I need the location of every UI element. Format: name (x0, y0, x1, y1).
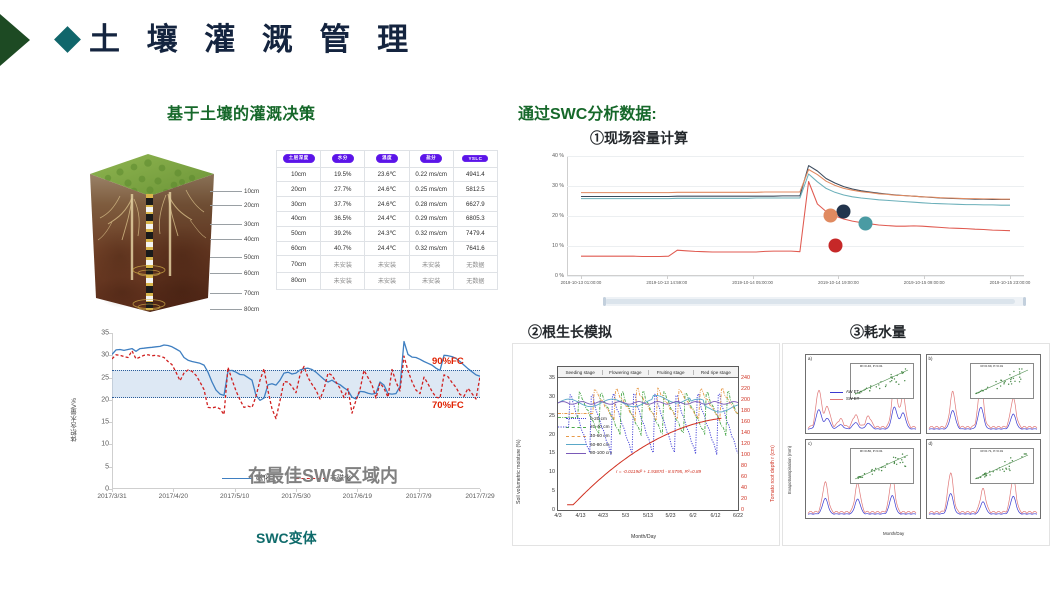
soil-profile-block: 10cm 20cm 30cm 40cm 50cm 60cm 70cm 80cm (82, 152, 278, 314)
table-cell: 无数据 (453, 256, 497, 273)
legend-swatch-line (830, 399, 843, 400)
table-body: 10cm19.5%23.6℃0.22 ms/cm4941.420cm27.7%2… (277, 167, 498, 289)
scatter-point (1001, 380, 1002, 381)
series-overlay (971, 364, 1033, 398)
capacity-plot-area: 0 %10 %20 %30 %40 %2019-10-13 01:00:0020… (567, 156, 1024, 276)
table-cell: 60cm (277, 241, 321, 256)
table-cell: 0.28 ms/cm (409, 197, 453, 212)
table-cell: 24.4℃ (365, 211, 409, 226)
scatter-point (1024, 453, 1025, 454)
et-panel-grid: a)0.00.30.60.91.21.54/164/184/20R²=0.46,… (805, 354, 1041, 519)
scatter-point (905, 466, 906, 467)
slide-header: 土 壤 灌 溉 管 理 (58, 24, 417, 55)
table-header-cell: 温度 (365, 151, 409, 168)
scrollbar-handle-right[interactable] (1023, 297, 1026, 306)
scatter-point (1022, 368, 1023, 369)
scatter-point (1002, 469, 1003, 470)
header-pill: 盐分 (420, 154, 442, 163)
y-axis-tick: 30 % (552, 183, 564, 189)
page-title: 土 壤 灌 溉 管 理 (89, 24, 417, 55)
series-overlay (971, 449, 1033, 483)
table-row: 20cm27.7%24.6℃0.25 ms/cm5812.5 (277, 182, 498, 197)
depth-label-group: 10cm 20cm 30cm 40cm 50cm 60cm 70cm 80cm (210, 152, 280, 314)
scatter-point (878, 469, 879, 470)
scrollbar-thumb[interactable] (605, 299, 1015, 304)
scatter-point (870, 387, 871, 388)
table-row: 70cm未安装未安装未安装无数据 (277, 256, 498, 273)
scatter-point (893, 457, 894, 458)
swc-optimal-zone-note: 在最佳SWC区域内 (248, 462, 398, 488)
table-cell: 0.25 ms/cm (409, 182, 453, 197)
scatter-point (1013, 378, 1014, 379)
scatter-point (1005, 381, 1006, 382)
table-row: 10cm19.5%23.6℃0.22 ms/cm4941.4 (277, 167, 498, 182)
x-axis-tick: 2017/4/20 (159, 493, 188, 500)
table-cell: 24.4℃ (365, 241, 409, 256)
scatter-point (1000, 469, 1001, 470)
y-axis-title-left: Soil volumetric moisture (%) (516, 386, 522, 504)
map-pin-orange[interactable] (823, 208, 838, 227)
header-pill: 土层深度 (283, 154, 315, 163)
table-cell: 未安装 (321, 273, 365, 290)
y-axis-tick-left: 25 (549, 413, 555, 419)
scatter-point (996, 381, 997, 382)
y-axis-tick-right: 240 (741, 375, 750, 381)
scatter-point (876, 386, 877, 387)
scatter-point (895, 381, 896, 382)
water-consumption-panels: Evapotranspiration (mm) Month/Day a)0.00… (782, 343, 1050, 546)
table-header-cell: 盐分 (409, 151, 453, 168)
y-axis-tick-right: 200 (741, 397, 750, 403)
x-tick-mark (667, 276, 668, 279)
table-cell: 50cm (277, 226, 321, 241)
series-overlay (558, 367, 738, 510)
x-tick-mark (1010, 276, 1011, 279)
table-cell: 27.7% (321, 182, 365, 197)
et-panel-c: c)0.00.51.01.52.02.56/76/86/96/10R²=0.80… (805, 439, 921, 519)
x-axis-tick: 6/22 (733, 513, 743, 519)
x-tick-mark (838, 276, 839, 279)
table-cell: 24.6℃ (365, 197, 409, 212)
series-path (581, 174, 1010, 205)
scatter-point (872, 474, 873, 475)
scatter-point (895, 457, 896, 458)
y-axis-title: 体积含水量V% (70, 398, 79, 443)
header-pill: 温度 (376, 154, 398, 163)
scatter-point (902, 453, 903, 454)
swc-chart-caption: SWC变体 (256, 528, 317, 548)
table-cell: 4941.4 (453, 167, 497, 182)
table-cell: 6805.3 (453, 211, 497, 226)
scatter-point (986, 475, 987, 476)
x-axis-tick: 5/3 (622, 513, 629, 519)
scatter-point (1014, 371, 1015, 372)
y-axis-tick-left: 20 (549, 432, 555, 438)
map-pin-red[interactable] (828, 238, 843, 257)
table-header-cell: 水分 (321, 151, 365, 168)
x-axis-tick: 2017/7/29 (465, 493, 494, 500)
y-axis-tick-right: 80 (741, 463, 747, 469)
scatter-point (984, 473, 985, 474)
scatter-point (1019, 381, 1020, 382)
x-axis-tick: 2019-10-14 19:00:00 (818, 280, 859, 285)
x-axis-tick: 4/23 (598, 513, 608, 519)
diamond-bullet-icon (54, 26, 81, 53)
table-cell: 70cm (277, 256, 321, 273)
y-axis-tick-left: 5 (552, 488, 555, 494)
field-capacity-chart: 0 %10 %20 %30 %40 %2019-10-13 01:00:0020… (525, 148, 1038, 308)
y-axis-title-right: Tomato root depth r (cm) (770, 392, 776, 502)
legend-label: SW ET (846, 396, 859, 403)
root-growth-chart: Soil volumetric moisture (%) Tomato root… (512, 343, 780, 546)
y-axis-tick-right: 220 (741, 386, 750, 392)
scatter-point (894, 463, 895, 464)
y-axis-tick-right: 120 (741, 441, 750, 447)
legend-item: SW ET (830, 396, 861, 403)
table-cell: 7641.6 (453, 241, 497, 256)
table-header-cell: YSLC (453, 151, 497, 168)
table-cell: 36.5% (321, 211, 365, 226)
scatter-point (1004, 382, 1005, 383)
scatter-point (885, 386, 886, 387)
table-cell: 80cm (277, 273, 321, 290)
depth-label: 10cm (244, 188, 259, 195)
y-axis-tick-right: 20 (741, 496, 747, 502)
x-axis-tick: 4/13 (575, 513, 585, 519)
depth-label: 20cm (244, 202, 259, 209)
x-axis-tick: 6/2 (689, 513, 696, 519)
scatter-point (1010, 374, 1011, 375)
table-cell: 40.7% (321, 241, 365, 256)
corner-accent-triangle (0, 14, 30, 66)
scatter-point (862, 477, 863, 478)
x-tick-mark (296, 489, 297, 492)
scatter-point (1011, 379, 1012, 380)
x-tick-mark (581, 276, 582, 279)
gridline (567, 276, 1024, 277)
scatter-point (901, 459, 902, 460)
x-axis-tick: 2019-10-15 23:00:00 (990, 280, 1031, 285)
y-axis-tick: 15 (101, 419, 109, 426)
scatter-point (891, 378, 892, 379)
scatter-point (881, 470, 882, 471)
capacity-section-heading: ①现场容量计算 (590, 128, 688, 148)
map-pin-teal[interactable] (858, 216, 873, 235)
x-axis-tick: 2017/6/19 (343, 493, 372, 500)
fc-lower-label: 70%FC (432, 400, 464, 411)
scatter-point (885, 384, 886, 385)
x-tick-mark (419, 489, 420, 492)
table-cell: 7479.4 (453, 226, 497, 241)
y-axis-tick-right: 60 (741, 474, 747, 480)
y-axis-tick-right: 160 (741, 419, 750, 425)
legend-swatch-line (830, 392, 843, 393)
x-axis-tick: 2017/5/30 (281, 493, 310, 500)
x-axis-title: Month/Day (631, 534, 656, 540)
depth-label: 50cm (244, 254, 259, 261)
depth-label: 30cm (244, 221, 259, 228)
y-axis-tick-left: 15 (549, 450, 555, 456)
inset-scatter-plot: R²=0.71, P<0.01 (970, 448, 1034, 484)
et-x-axis-title: Month/Day (883, 531, 904, 536)
y-axis-tick: 40 % (552, 153, 564, 159)
scatter-point (1004, 383, 1005, 384)
y-axis-tick: 30 (101, 352, 109, 359)
series-overlay (567, 156, 1024, 276)
soil-data-table: 土层深度 水分 温度 盐分 YSLC 10cm19.5%23.6℃0.22 ms… (276, 150, 498, 290)
scatter-point (879, 388, 880, 389)
table-cell: 30cm (277, 197, 321, 212)
scatter-point (1009, 468, 1010, 469)
scatter-point (1019, 376, 1020, 377)
scatter-point (890, 374, 891, 375)
series-path (929, 407, 1037, 429)
right-section-heading: 通过SWC分析数据: (518, 100, 657, 124)
table-cell: 未安装 (365, 256, 409, 273)
table-row: 80cm未安装未安装未安装无数据 (277, 273, 498, 290)
table-cell: 19.5% (321, 167, 365, 182)
scatter-point (1005, 461, 1006, 462)
x-tick-mark (235, 489, 236, 492)
y-axis-tick-left: 30 (549, 394, 555, 400)
x-axis-tick: 6/12 (710, 513, 720, 519)
et-panel-d: d)0.00.51.01.52.02.56/166/176/186/19R²=0… (926, 439, 1042, 519)
scatter-point (990, 474, 991, 475)
scatter-point (1000, 385, 1001, 386)
table-cell: 0.32 ms/cm (409, 241, 453, 256)
scatter-point (1010, 457, 1011, 458)
table-cell: 0.29 ms/cm (409, 211, 453, 226)
soil-data-table-wrapper: 土层深度 水分 温度 盐分 YSLC 10cm19.5%23.6℃0.22 ms… (276, 150, 498, 290)
scatter-point (891, 380, 892, 381)
scatter-point (1010, 470, 1011, 471)
table-cell: 0.22 ms/cm (409, 167, 453, 182)
scatter-point (1006, 468, 1007, 469)
inset-scatter-plot: R²=0.80, P<0.01 (850, 448, 914, 484)
table-cell: 24.6℃ (365, 182, 409, 197)
scatter-point (905, 368, 906, 369)
y-axis-tick-left: 10 (549, 469, 555, 475)
scatter-point (1010, 381, 1011, 382)
y-axis-tick-right: 40 (741, 485, 747, 491)
series-path (581, 170, 1010, 200)
scatter-point (904, 380, 905, 381)
y-axis-tick: 10 (101, 441, 109, 448)
table-cell: 10cm (277, 167, 321, 182)
table-cell: 0.32 ms/cm (409, 226, 453, 241)
x-tick-mark (753, 276, 754, 279)
table-row: 40cm36.5%24.4℃0.29 ms/cm6805.3 (277, 211, 498, 226)
series-path (112, 351, 480, 419)
scatter-point (875, 468, 876, 469)
table-cell: 23.6℃ (365, 167, 409, 182)
x-axis-tick: 2017/7/9 (406, 493, 432, 500)
y-axis-tick: 20 (101, 396, 109, 403)
x-axis-tick: 2019-10-14 05:00:00 (732, 280, 773, 285)
scatter-point (898, 384, 899, 385)
series-path (855, 455, 908, 479)
x-axis-tick: 2019-10-15 09:00:00 (904, 280, 945, 285)
table-row: 50cm39.2%24.3℃0.32 ms/cm7479.4 (277, 226, 498, 241)
y-axis-tick-right: 100 (741, 452, 750, 458)
table-cell: 未安装 (365, 273, 409, 290)
table-cell: 未安装 (409, 273, 453, 290)
y-axis-tick: 20 % (552, 213, 564, 219)
scatter-point (1015, 381, 1016, 382)
y-axis-tick-left: 35 (549, 375, 555, 381)
chart-range-scrollbar[interactable] (603, 297, 1026, 306)
scatter-point (885, 466, 886, 467)
depth-label: 60cm (244, 270, 259, 277)
x-axis-tick: 5/23 (665, 513, 675, 519)
scatter-point (899, 462, 900, 463)
table-header-row: 土层深度 水分 温度 盐分 YSLC (277, 151, 498, 168)
x-tick-mark (924, 276, 925, 279)
scatter-point (1019, 368, 1020, 369)
water-consumption-section-heading: ③耗水量 (850, 322, 906, 342)
depth-label: 70cm (244, 290, 259, 297)
y-axis-tick: 35 (101, 330, 109, 337)
scatter-point (902, 462, 903, 463)
scatter-point (889, 381, 890, 382)
et-panel-b: b)0123455/55/65/75/8R²=0.69, P<0.01 (926, 354, 1042, 434)
x-axis-tick: 2017/3/31 (97, 493, 126, 500)
x-axis-tick: 2019-10-13 14:59:00 (646, 280, 687, 285)
inset-scatter-plot: R²=0.69, P<0.01 (970, 363, 1034, 399)
legend-item: AW ET₀ (830, 389, 861, 396)
table-cell: 20cm (277, 182, 321, 197)
table-cell: 39.2% (321, 226, 365, 241)
et-y-axis-title: Evapotranspiration (mm) (787, 384, 792, 494)
fc-upper-label: 90%FC (432, 356, 464, 367)
scatter-point (1009, 466, 1010, 467)
series-path (581, 166, 1010, 200)
table-cell: 无数据 (453, 273, 497, 290)
scatter-point (878, 384, 879, 385)
depth-label: 40cm (244, 236, 259, 243)
y-axis-tick: 25 (101, 374, 109, 381)
legend-label: AW ET₀ (846, 389, 861, 396)
x-axis-tick: 5/13 (643, 513, 653, 519)
scatter-point (1021, 379, 1022, 380)
soil-profile-svg (82, 152, 222, 314)
series-path (975, 455, 1028, 479)
y-axis-tick-right: 140 (741, 430, 750, 436)
root-plot-area: Seeding stageFlowering stageFruiting sta… (557, 366, 739, 511)
scatter-point (1019, 371, 1020, 372)
left-section-heading: 基于土壤的灌溉决策 (167, 100, 316, 124)
header-pill: 水分 (332, 154, 354, 163)
scatter-point (896, 464, 897, 465)
table-cell: 6627.9 (453, 197, 497, 212)
scrollbar-handle-left[interactable] (603, 297, 606, 306)
table-cell: 24.3℃ (365, 226, 409, 241)
scatter-point (984, 476, 985, 477)
x-tick-mark (173, 489, 174, 492)
series-path (855, 370, 908, 394)
table-cell: 未安装 (409, 256, 453, 273)
series-path (808, 407, 916, 429)
scatter-point (1008, 384, 1009, 385)
table-cell: 40cm (277, 211, 321, 226)
y-axis-tick: 0 % (555, 273, 564, 279)
y-axis-tick-right: 180 (741, 408, 750, 414)
series-overlay (851, 449, 913, 483)
scatter-point (1004, 471, 1005, 472)
et-legend: AW ET₀SW ET (830, 389, 861, 402)
x-tick-mark (112, 489, 113, 492)
x-axis-tick: 4/3 (554, 513, 561, 519)
header-pill: YSLC (462, 155, 488, 163)
table-cell: 37.7% (321, 197, 365, 212)
scatter-point (894, 378, 895, 379)
table-row: 60cm40.7%24.4℃0.32 ms/cm7641.6 (277, 241, 498, 256)
scatter-point (1011, 383, 1012, 384)
map-pin-navy[interactable] (836, 204, 851, 223)
scatter-point (1012, 460, 1013, 461)
scatter-point (871, 469, 872, 470)
depth-label: 80cm (244, 306, 259, 313)
et-panel-a: a)0.00.30.60.91.21.54/164/184/20R²=0.46,… (805, 354, 921, 434)
x-tick-mark (357, 489, 358, 492)
scatter-point (1026, 453, 1027, 454)
x-tick-mark (480, 489, 481, 492)
table-cell: 未安装 (321, 256, 365, 273)
table-row: 30cm37.7%24.6℃0.28 ms/cm6627.9 (277, 197, 498, 212)
y-axis-tick: 10 % (552, 243, 564, 249)
root-growth-section-heading: ②根生长模拟 (528, 322, 612, 342)
x-axis-tick: 2019-10-13 01:00:00 (561, 280, 602, 285)
scatter-point (869, 390, 870, 391)
scatter-point (997, 388, 998, 389)
x-axis-tick: 2017/5/10 (220, 493, 249, 500)
table-header-cell: 土层深度 (277, 151, 321, 168)
table-cell: 5812.5 (453, 182, 497, 197)
